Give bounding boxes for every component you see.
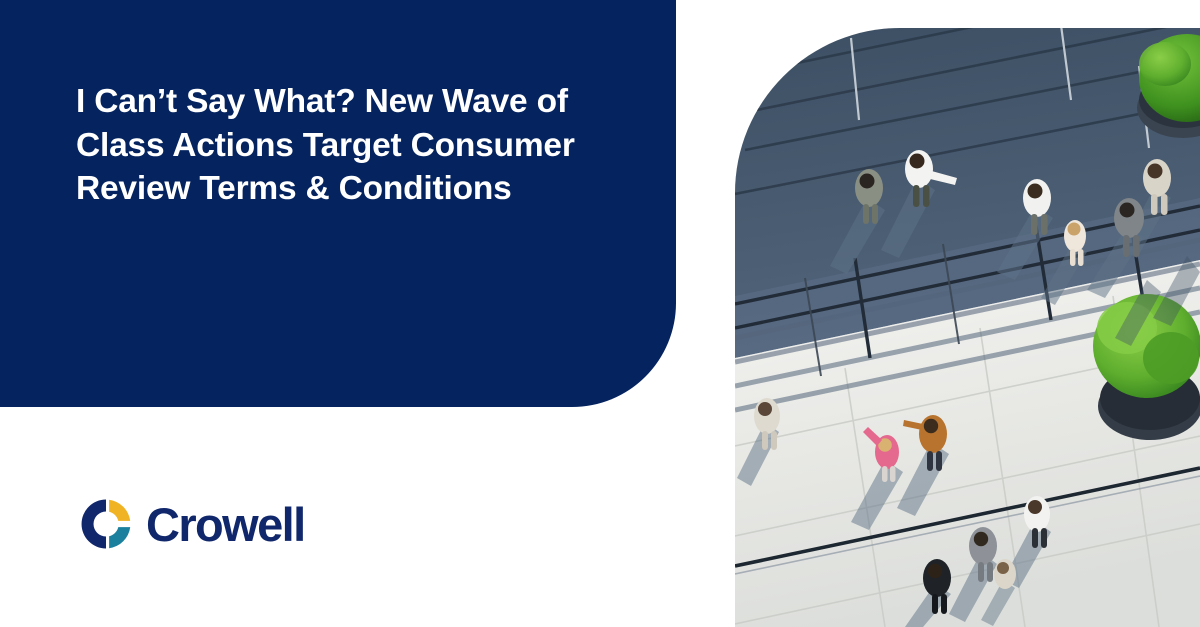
planter-top-right xyxy=(1137,34,1200,138)
page-title-line-3: Review Terms & Conditions xyxy=(76,167,636,211)
page-title: I Can’t Say What? New Wave of Class Acti… xyxy=(76,80,636,211)
crowell-circle-mark-icon xyxy=(80,498,132,550)
page-title-line-1: I Can’t Say What? New Wave of xyxy=(76,80,636,124)
brand-wordmark: Crowell xyxy=(146,501,305,548)
brand-logo[interactable]: Crowell xyxy=(80,498,305,550)
hero-photo-illustration xyxy=(735,28,1200,627)
hero-photo xyxy=(735,28,1200,627)
page-title-line-2: Class Actions Target Consumer xyxy=(76,124,636,168)
social-share-card: I Can’t Say What? New Wave of Class Acti… xyxy=(0,0,1200,627)
